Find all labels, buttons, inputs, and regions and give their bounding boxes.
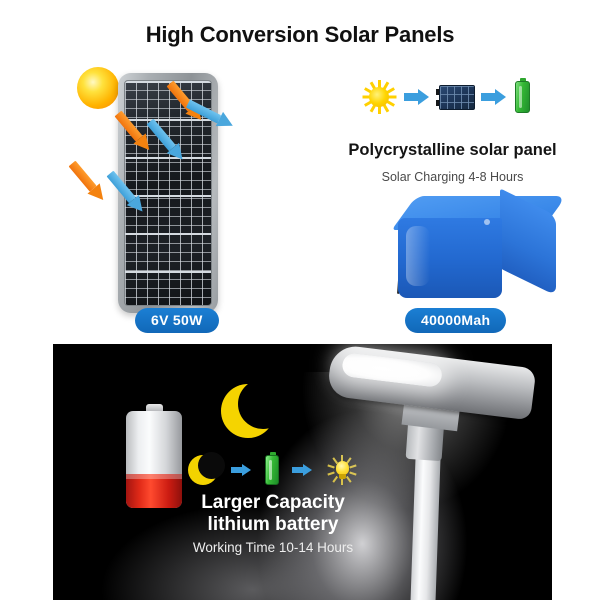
night-scene-panel: Larger Capacity lithium battery Working … [53,344,552,600]
badge-panel-spec: 6V 50W [135,308,219,333]
crescent-moon-icon [221,384,275,438]
night-heading-line1: Larger Capacity [201,492,345,513]
battery-pack-icon [398,196,574,304]
solar-charging-note: Solar Charging 4-8 Hours [330,170,575,184]
page-title: High Conversion Solar Panels [0,22,600,48]
badge-battery-capacity: 40000Mah [405,308,506,333]
solar-panel-icon [439,85,475,110]
battery-icon [515,81,530,113]
crescent-moon-icon [188,455,218,485]
led-lamp [341,352,443,388]
solar-panel-scene [60,55,290,315]
sun-icon [360,78,398,116]
solar-panel-heading: Polycrystalline solar panel [330,141,575,160]
solar-charging-flow [360,72,530,122]
street-light-icon [329,348,552,600]
light-pole [410,456,440,600]
infographic-page: High Conversion Solar Panels [0,0,600,600]
orange-arrow-icon [65,158,109,206]
night-heading-line2: lithium battery [208,514,339,535]
battery-icon [265,455,279,485]
